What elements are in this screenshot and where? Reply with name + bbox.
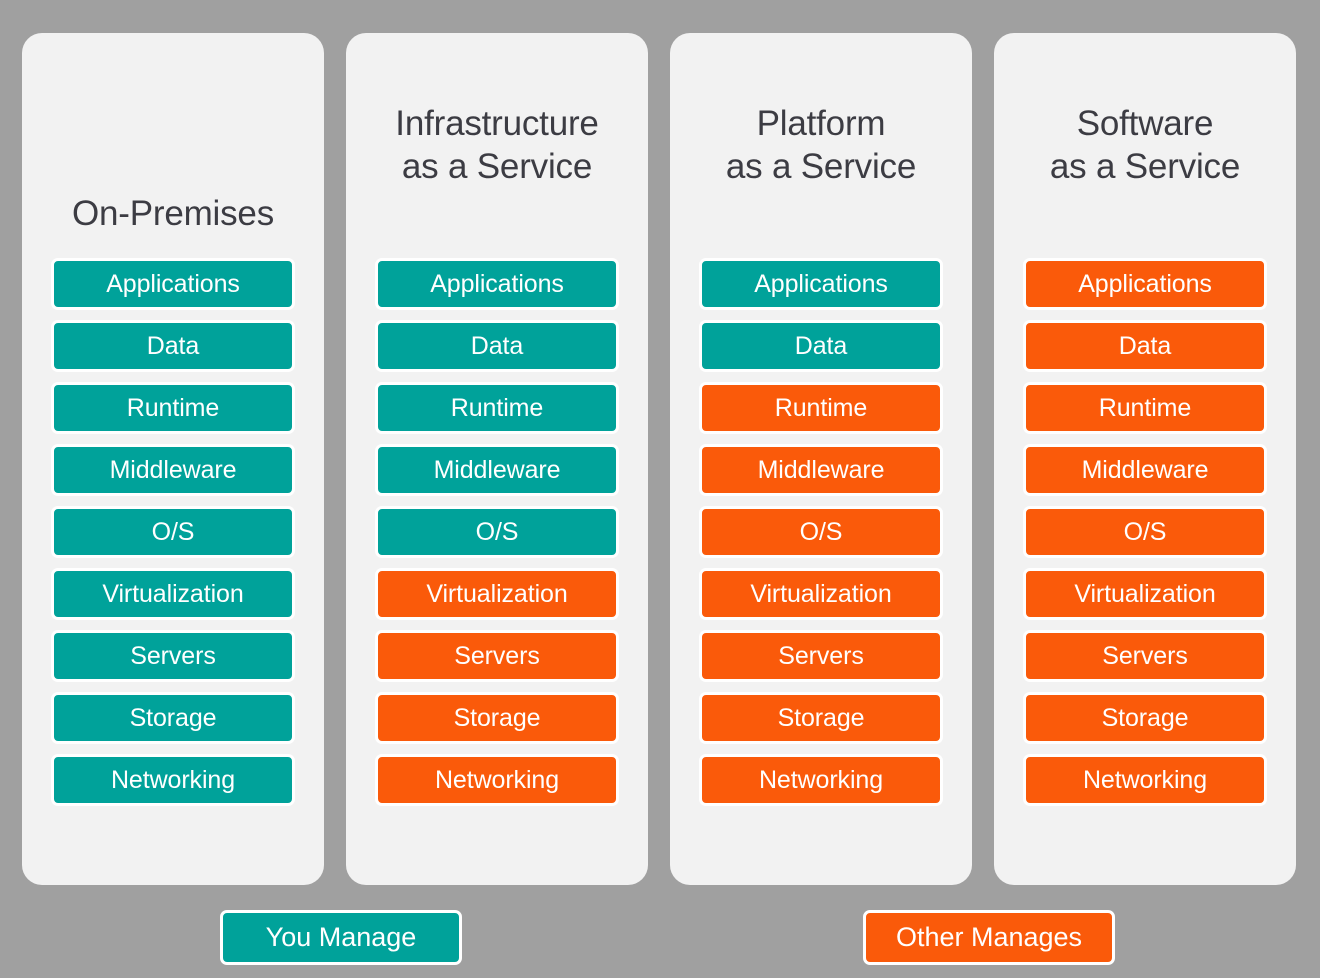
layer-middleware[interactable]: Middleware [1023, 444, 1267, 496]
column-software-as-a-service[interactable]: Software as a Service Applications Data … [994, 33, 1296, 885]
layer-servers[interactable]: Servers [1023, 630, 1267, 682]
column-title-line: as a Service [726, 146, 916, 189]
layer-storage[interactable]: Storage [375, 692, 619, 744]
layer-storage[interactable]: Storage [1023, 692, 1267, 744]
layer-applications[interactable]: Applications [1023, 258, 1267, 310]
layer-data[interactable]: Data [1023, 320, 1267, 372]
column-title-line: as a Service [402, 146, 592, 189]
layer-middleware[interactable]: Middleware [51, 444, 295, 496]
layer-stack-software-as-a-service: Applications Data Runtime Middleware O/S… [1002, 258, 1288, 806]
column-title-on-premises: On-Premises [30, 33, 316, 258]
layer-data[interactable]: Data [51, 320, 295, 372]
layer-virtualization[interactable]: Virtualization [375, 568, 619, 620]
column-on-premises[interactable]: On-Premises Applications Data Runtime Mi… [22, 33, 324, 885]
column-title-platform-as-a-service: Platform as a Service [678, 33, 964, 258]
layer-runtime[interactable]: Runtime [699, 382, 943, 434]
column-title-infrastructure-as-a-service: Infrastructure as a Service [354, 33, 640, 258]
legend-other-manages: Other Manages [863, 910, 1115, 965]
layer-networking[interactable]: Networking [699, 754, 943, 806]
layer-applications[interactable]: Applications [699, 258, 943, 310]
layer-storage[interactable]: Storage [699, 692, 943, 744]
layer-os[interactable]: O/S [699, 506, 943, 558]
column-title-line: as a Service [1050, 146, 1240, 189]
layer-servers[interactable]: Servers [375, 630, 619, 682]
column-title-line: Platform [757, 103, 886, 146]
layer-middleware[interactable]: Middleware [699, 444, 943, 496]
layer-servers[interactable]: Servers [51, 630, 295, 682]
column-title-line: On-Premises [72, 193, 274, 236]
layer-networking[interactable]: Networking [375, 754, 619, 806]
column-title-line: Infrastructure [395, 103, 598, 146]
layer-runtime[interactable]: Runtime [51, 382, 295, 434]
layer-applications[interactable]: Applications [375, 258, 619, 310]
layer-storage[interactable]: Storage [51, 692, 295, 744]
layer-runtime[interactable]: Runtime [1023, 382, 1267, 434]
service-model-columns: On-Premises Applications Data Runtime Mi… [22, 33, 1300, 885]
layer-middleware[interactable]: Middleware [375, 444, 619, 496]
layer-networking[interactable]: Networking [1023, 754, 1267, 806]
layer-networking[interactable]: Networking [51, 754, 295, 806]
layer-virtualization[interactable]: Virtualization [1023, 568, 1267, 620]
column-title-software-as-a-service: Software as a Service [1002, 33, 1288, 258]
layer-stack-infrastructure-as-a-service: Applications Data Runtime Middleware O/S… [354, 258, 640, 806]
column-platform-as-a-service[interactable]: Platform as a Service Applications Data … [670, 33, 972, 885]
column-title-line: Software [1077, 103, 1214, 146]
layer-stack-platform-as-a-service: Applications Data Runtime Middleware O/S… [678, 258, 964, 806]
layer-stack-on-premises: Applications Data Runtime Middleware O/S… [30, 258, 316, 806]
layer-os[interactable]: O/S [1023, 506, 1267, 558]
responsibility-diagram: On-Premises Applications Data Runtime Mi… [0, 0, 1320, 978]
column-infrastructure-as-a-service[interactable]: Infrastructure as a Service Applications… [346, 33, 648, 885]
legend-you-manage: You Manage [220, 910, 462, 965]
layer-servers[interactable]: Servers [699, 630, 943, 682]
layer-virtualization[interactable]: Virtualization [699, 568, 943, 620]
layer-runtime[interactable]: Runtime [375, 382, 619, 434]
layer-virtualization[interactable]: Virtualization [51, 568, 295, 620]
layer-data[interactable]: Data [699, 320, 943, 372]
layer-os[interactable]: O/S [51, 506, 295, 558]
layer-applications[interactable]: Applications [51, 258, 295, 310]
layer-data[interactable]: Data [375, 320, 619, 372]
layer-os[interactable]: O/S [375, 506, 619, 558]
